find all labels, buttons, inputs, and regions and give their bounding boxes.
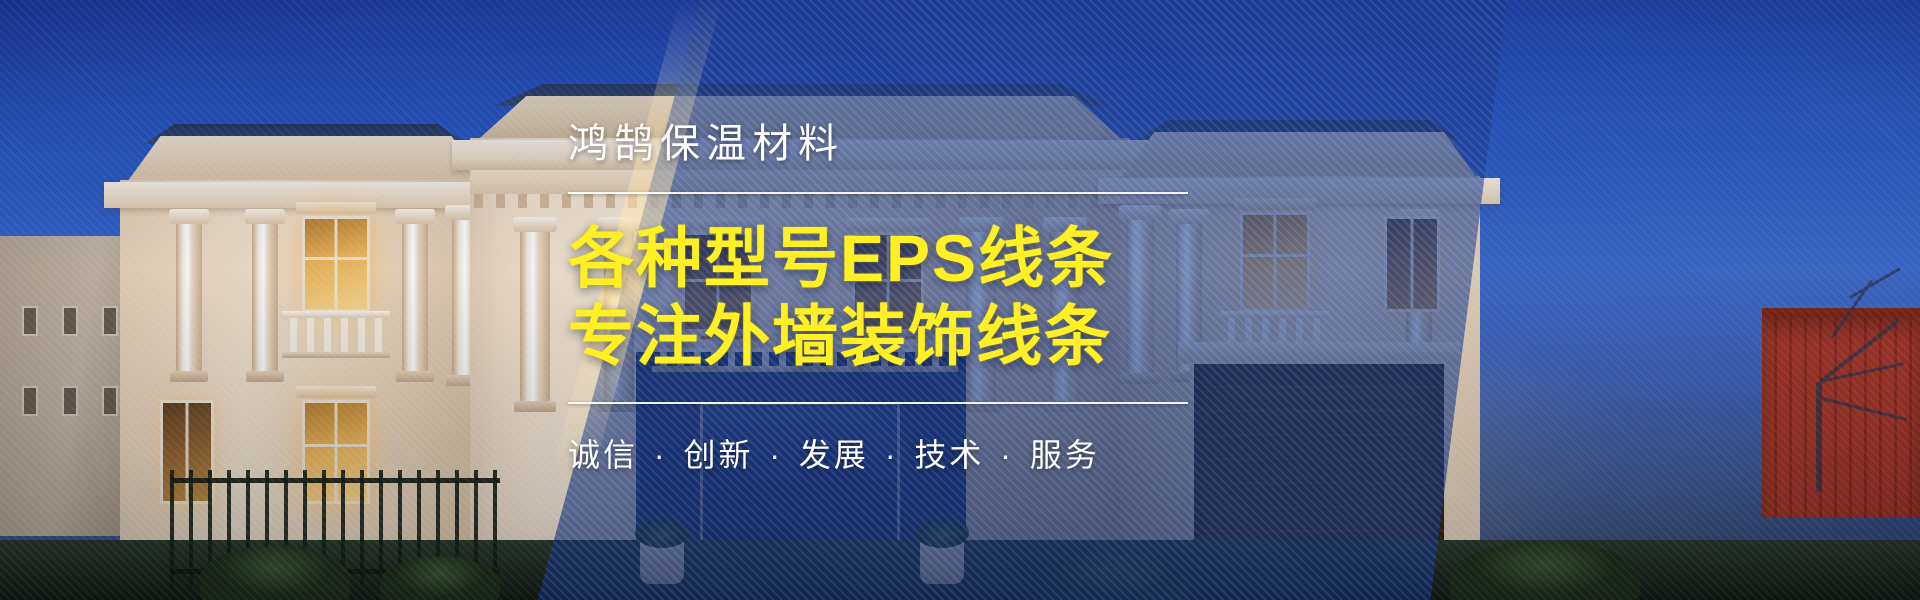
tagline-item: 创新 — [683, 437, 753, 473]
divider-below-headline — [568, 402, 1188, 404]
tagline-item: 发展 — [799, 437, 869, 473]
tagline-separator: · — [765, 437, 787, 473]
headline: 各种型号EPS线条 专注外墙装饰线条 — [568, 220, 1114, 376]
divider-above-headline — [568, 192, 1188, 194]
tagline: 诚信 · 创新 · 发展 · 技术 · 服务 — [568, 430, 1100, 476]
headline-line-1: 各种型号EPS线条 — [568, 220, 1114, 298]
banner-content: 鸿鹄保温材料 各种型号EPS线条 专注外墙装饰线条 诚信 · 创新 · 发展 ·… — [560, 0, 1320, 600]
tagline-separator: · — [881, 437, 903, 473]
tagline-separator: · — [650, 437, 672, 473]
tagline-item: 诚信 — [568, 437, 638, 473]
headline-line-2: 专注外墙装饰线条 — [568, 298, 1114, 376]
tagline-separator: · — [996, 437, 1018, 473]
promo-banner: 鸿鹄保温材料 各种型号EPS线条 专注外墙装饰线条 诚信 · 创新 · 发展 ·… — [0, 0, 1920, 600]
tagline-item: 服务 — [1030, 437, 1100, 473]
brand-name: 鸿鹄保温材料 — [568, 124, 844, 164]
tagline-item: 技术 — [914, 437, 984, 473]
